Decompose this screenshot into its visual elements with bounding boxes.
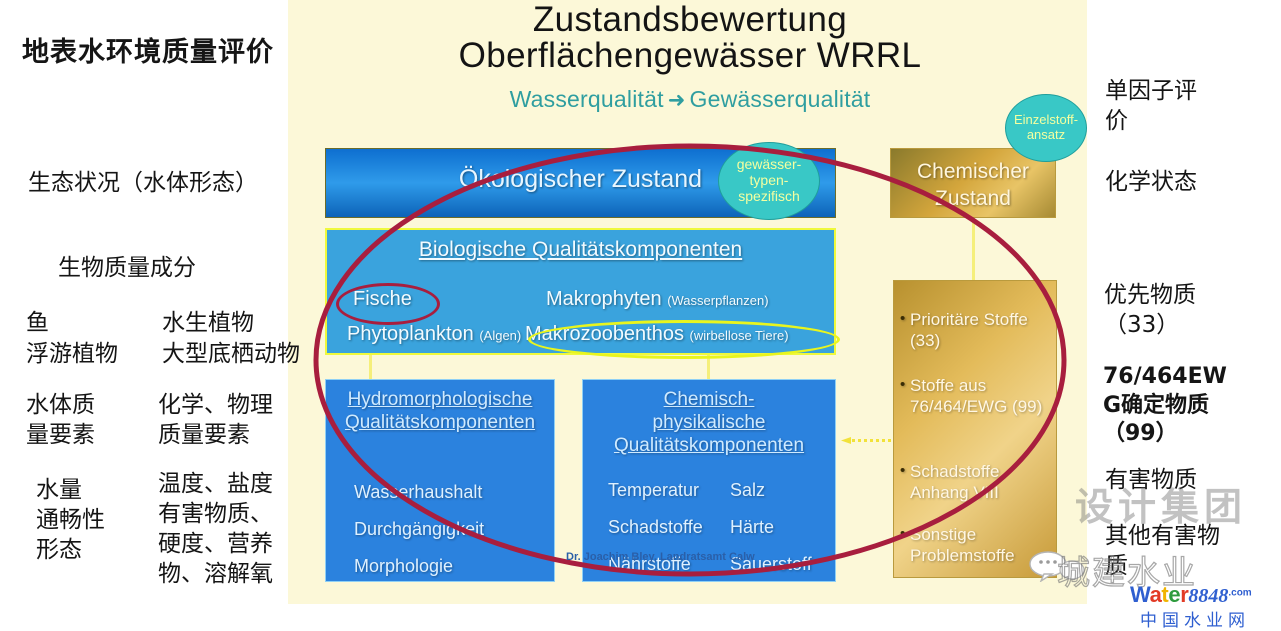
german-title: Zustandsbewertung Oberflächengewässer WR…	[300, 2, 1080, 73]
author-credit: Dr. Joachim Bley, Landratsamt Calw	[566, 551, 755, 563]
box-header-line: Qualitätskomponenten	[326, 411, 554, 434]
list-item: 温度、盐度	[158, 470, 273, 500]
german-subtitle: Wasserqualität➜Gewässerqualität	[300, 86, 1080, 113]
list-item: 水生植物	[162, 308, 300, 339]
annotation-ellipse-fische	[336, 283, 440, 325]
list-item: （33）	[1104, 310, 1196, 340]
callout-line: ansatz	[1014, 128, 1078, 143]
box-header-line: Chemisch-	[583, 388, 835, 411]
hydro-item: Morphologie	[354, 556, 453, 577]
box-title-line: Chemischer	[891, 159, 1055, 186]
chinese-list-chemphys-label: 化学、物理 质量要素	[158, 390, 273, 451]
chinese-ewg-substances-label: 76/464EW G确定物质 （99）	[1103, 363, 1227, 449]
subtitle-right-text: Gewässerqualität	[689, 86, 870, 112]
substance-item: •Stoffe aus 76/464/EWG (99)	[910, 375, 1050, 418]
callout-gewaessertypspezifisch[interactable]: gewässer- typen- spezifisch	[718, 142, 820, 220]
box-header-line: physikalische	[583, 411, 835, 434]
list-item: 化学、物理	[158, 390, 273, 420]
list-item: G确定物质	[1103, 392, 1227, 421]
logo-letter-e: e	[1168, 582, 1180, 607]
box-title-line: Zustand	[891, 186, 1055, 213]
logo-letter-a: a	[1150, 582, 1162, 607]
bio-item-label: Phytoplankton	[347, 323, 474, 345]
bio-item-label: Makrophyten	[546, 288, 662, 310]
list-item: （99）	[1103, 420, 1227, 449]
substance-item: •Prioritäre Stoffe (33)	[910, 309, 1050, 352]
logo-wordmark: Water	[1130, 582, 1188, 607]
substance-label: Prioritäre Stoffe (33)	[910, 310, 1028, 350]
arrow-right-icon: ➜	[664, 89, 690, 112]
substance-label: Sonstige Problemstoffe	[910, 525, 1015, 565]
slide-canvas: Zustandsbewertung Oberflächengewässer WR…	[0, 0, 1281, 631]
bullet-icon: •	[900, 525, 905, 544]
chinese-single-factor-label: 单因子评 价	[1105, 76, 1197, 137]
box-hydromorphologische-qualitaetskomponenten[interactable]: Hydromorphologische Qualitätskomponenten…	[325, 379, 555, 582]
bullet-icon: •	[900, 376, 905, 395]
list-item: 单因子评	[1105, 76, 1197, 106]
box-header-line: Hydromorphologische	[326, 388, 554, 411]
chinese-list-bio-b: 水生植物 大型底栖动物	[162, 308, 300, 370]
chemphys-item: Salz	[730, 480, 765, 501]
list-item: 鱼	[26, 308, 118, 339]
box-header: Biologische Qualitätskomponenten	[327, 238, 834, 262]
list-item: 水量	[36, 476, 105, 506]
page-title-chinese: 地表水环境质量评价	[22, 30, 274, 69]
box-title: Chemischer Zustand	[891, 159, 1055, 213]
connector-line-chemical	[972, 218, 975, 280]
label-ecological-status-chinese: 生态状况（水体形态）	[28, 163, 258, 197]
watermark-design-group: 设计集团	[1075, 476, 1247, 531]
list-item: 大型底栖动物	[162, 339, 300, 370]
box-header-line: Qualitätskomponenten	[583, 434, 835, 457]
box-substances-list[interactable]: •Prioritäre Stoffe (33) •Stoffe aus 76/4…	[893, 280, 1057, 578]
connector-line-hydro	[369, 355, 372, 379]
list-item: 质量要素	[158, 420, 273, 450]
chinese-priority-substances-label: 优先物质 （33）	[1104, 280, 1196, 341]
bullet-icon: •	[900, 462, 905, 481]
box-header: Hydromorphologische Qualitätskomponenten	[326, 388, 554, 434]
substance-label: Schadstoffe Anhang VIII	[910, 462, 999, 502]
german-title-line1: Zustandsbewertung	[300, 2, 1080, 38]
logo-number: 8848	[1188, 585, 1228, 607]
chinese-chemical-state-label: 化学状态	[1105, 162, 1197, 196]
chemphys-item: Temperatur	[608, 480, 699, 501]
callout-einzelstoffansatz[interactable]: Einzelstoff- ansatz	[1005, 94, 1087, 162]
logo-tld: .com	[1228, 588, 1251, 599]
list-item: 优先物质	[1104, 280, 1196, 310]
list-item: 硬度、营养	[158, 530, 273, 560]
substance-item: •Schadstoffe Anhang VIII	[910, 461, 1050, 504]
chemphys-item: Härte	[730, 517, 774, 538]
arrow-left-dotted-icon	[841, 437, 893, 444]
hydro-item: Wasserhaushalt	[354, 482, 482, 503]
list-item: 水体质	[26, 390, 95, 420]
list-item: 通畅性	[36, 506, 105, 536]
hydro-item: Durchgängigkeit	[354, 519, 484, 540]
bio-item-note: (Algen)	[479, 328, 521, 343]
chinese-list-chemphys-items: 温度、盐度 有害物质、 硬度、营养 物、溶解氧	[158, 470, 273, 590]
logo-chinese-name: 中国水业网	[1140, 606, 1250, 631]
bio-item-makrophyten: Makrophyten (Wasserpflanzen)	[546, 288, 769, 311]
list-item: 物、溶解氧	[158, 560, 273, 590]
logo-water8848[interactable]: Water8848.com	[1130, 582, 1252, 608]
logo-letter-w: W	[1130, 582, 1150, 607]
bullet-icon: •	[900, 310, 905, 329]
box-header: Chemisch- physikalische Qualitätskompone…	[583, 388, 835, 458]
german-title-line2: Oberflächengewässer WRRL	[300, 38, 1080, 74]
list-item: 量要素	[26, 420, 95, 450]
callout-line: typen-	[737, 173, 802, 189]
list-item: 价	[1105, 106, 1197, 136]
label-biological-quality-chinese: 生物质量成分	[58, 248, 196, 282]
chemphys-item: Schadstoffe	[608, 517, 703, 538]
chinese-list-hydro-label: 水体质 量要素	[26, 390, 95, 451]
list-item: 浮游植物	[26, 339, 118, 370]
callout-line: Einzelstoff-	[1014, 113, 1078, 128]
chinese-list-hydro-items: 水量 通畅性 形态	[36, 476, 105, 566]
bio-item-note: (Wasserpflanzen)	[667, 293, 768, 308]
chinese-list-bio-a: 鱼 浮游植物	[26, 308, 118, 370]
list-item: 有害物质、	[158, 500, 273, 530]
substance-label: Stoffe aus 76/464/EWG (99)	[910, 376, 1042, 416]
bio-item-phytoplankton: Phytoplankton (Algen)	[347, 323, 521, 346]
annotation-ellipse-makrozoobenthos	[528, 320, 840, 359]
list-item: 76/464EW	[1103, 363, 1227, 392]
subtitle-left-text: Wasserqualität	[510, 86, 664, 112]
callout-line: gewässer-	[737, 157, 802, 173]
list-item: 形态	[36, 536, 105, 566]
callout-line: spezifisch	[737, 189, 802, 205]
